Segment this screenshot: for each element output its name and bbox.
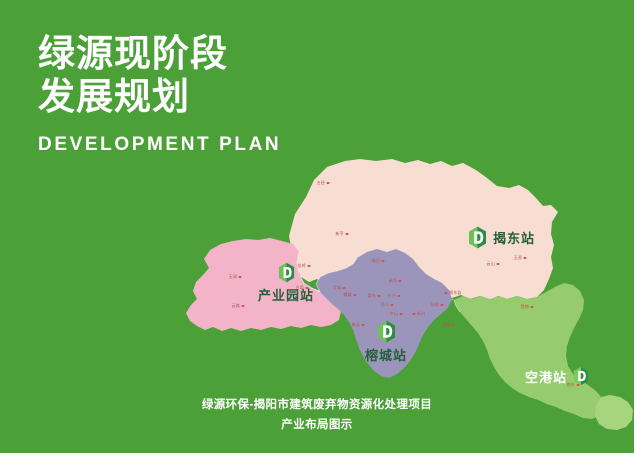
- town-label: 登岗: [521, 304, 534, 310]
- station-marker-chanyeyuan[interactable]: 产业园站: [258, 262, 314, 304]
- caption-block: 绿源环保-揭阳市建筑废弃物资源化处理项目 产业布局图示: [0, 395, 634, 435]
- town-label-text: 云山: [487, 261, 495, 267]
- town-label: 仙桥: [431, 302, 444, 308]
- town-dot-icon: [413, 313, 416, 316]
- town-label-text: 埔田: [372, 258, 380, 264]
- station-label: 产业园站: [258, 285, 314, 304]
- caption-line-1: 绿源环保-揭阳市建筑废弃物资源化处理项目: [0, 395, 634, 415]
- town-label: 云路: [232, 303, 245, 309]
- town-label: 五经: [317, 180, 330, 186]
- town-dot-icon: [354, 294, 357, 297]
- town-dot-icon: [346, 233, 349, 236]
- town-label-text: 霖磐: [344, 292, 352, 298]
- town-dot-icon: [524, 257, 527, 260]
- town-dot-icon: [531, 306, 534, 309]
- town-label: 月城: [333, 285, 346, 291]
- town-label: 新兴: [413, 311, 426, 317]
- town-label: 西马: [381, 302, 394, 308]
- town-dot-icon: [239, 276, 242, 279]
- town-dot-icon: [382, 260, 385, 263]
- town-label-text: 揭东县: [449, 290, 462, 296]
- town-label-text: 西马: [381, 302, 389, 308]
- greenyuan-logo-icon: [377, 320, 396, 343]
- town-dot-icon: [399, 280, 402, 283]
- town-label: 新亨: [336, 231, 349, 237]
- town-label-text: 五经: [317, 180, 325, 186]
- station-marker-jiedong[interactable]: 揭东站: [468, 226, 535, 249]
- town-label-text: 云路: [232, 303, 240, 309]
- greenyuan-logo-icon: [468, 226, 487, 249]
- town-label: 霖磐: [344, 292, 357, 298]
- town-label-text: 玉湖: [229, 274, 237, 280]
- station-label: 揭东站: [493, 228, 535, 247]
- town-label-text: 新兴: [417, 311, 425, 317]
- town-label-text: 仙桥: [431, 302, 439, 308]
- station-marker-rongcheng[interactable]: 榕城站: [365, 320, 407, 364]
- headline-line-2: 发展规划: [38, 75, 378, 118]
- town-label: 埔田: [372, 258, 385, 264]
- caption-line-2: 产业布局图示: [0, 415, 634, 435]
- town-dot-icon: [391, 304, 394, 307]
- town-dot-icon: [441, 304, 444, 307]
- town-label-text: 梅云: [352, 322, 360, 328]
- station-label: 榕城站: [365, 345, 407, 364]
- town-dot-icon: [398, 295, 401, 298]
- town-dot-icon: [497, 263, 500, 266]
- station-label: 空港站: [525, 367, 567, 386]
- greenyuan-logo-icon: [278, 262, 295, 283]
- town-dot-icon: [444, 292, 447, 295]
- town-label-text: 锡场: [389, 278, 397, 284]
- town-label: 云山: [487, 261, 500, 267]
- town-label-text: 磐东: [368, 293, 376, 299]
- town-dot-icon: [343, 287, 346, 290]
- poster-root: 五经 新亨 埔田 白塔 玉湖 桂岭: [0, 0, 634, 453]
- town-label-text: 新亨: [336, 231, 344, 237]
- headline-line-1: 绿源现阶段: [38, 32, 378, 75]
- town-label-text: 月城: [333, 285, 341, 291]
- town-dot-icon: [452, 324, 455, 327]
- town-dot-icon: [242, 305, 245, 308]
- town-label-text: 地都: [442, 322, 450, 328]
- town-dot-icon: [378, 295, 381, 298]
- town-label-text: 登岗: [521, 304, 529, 310]
- town-dot-icon: [327, 182, 330, 185]
- town-label: 揭东县: [444, 290, 461, 296]
- town-label: 东兴: [388, 293, 401, 299]
- headline-subtitle: DEVELOPMENT PLAN: [38, 134, 378, 156]
- town-label: 磐东: [368, 293, 381, 299]
- town-label-text: 中山: [390, 311, 398, 317]
- greenyuan-logo-icon: [573, 366, 589, 386]
- station-marker-konggang[interactable]: 空港站: [525, 366, 589, 386]
- town-label: 玉滘: [514, 255, 527, 261]
- town-label: 梅云: [352, 322, 365, 328]
- town-label: 玉湖: [229, 274, 242, 280]
- town-label: 锡场: [389, 278, 402, 284]
- town-label: 地都: [442, 322, 455, 328]
- town-dot-icon: [400, 313, 403, 316]
- town-label-text: 玉滘: [514, 255, 522, 261]
- town-label-text: 东兴: [388, 293, 396, 299]
- headline-block: 绿源现阶段 发展规划 DEVELOPMENT PLAN: [38, 32, 378, 156]
- town-label: 中山: [390, 311, 403, 317]
